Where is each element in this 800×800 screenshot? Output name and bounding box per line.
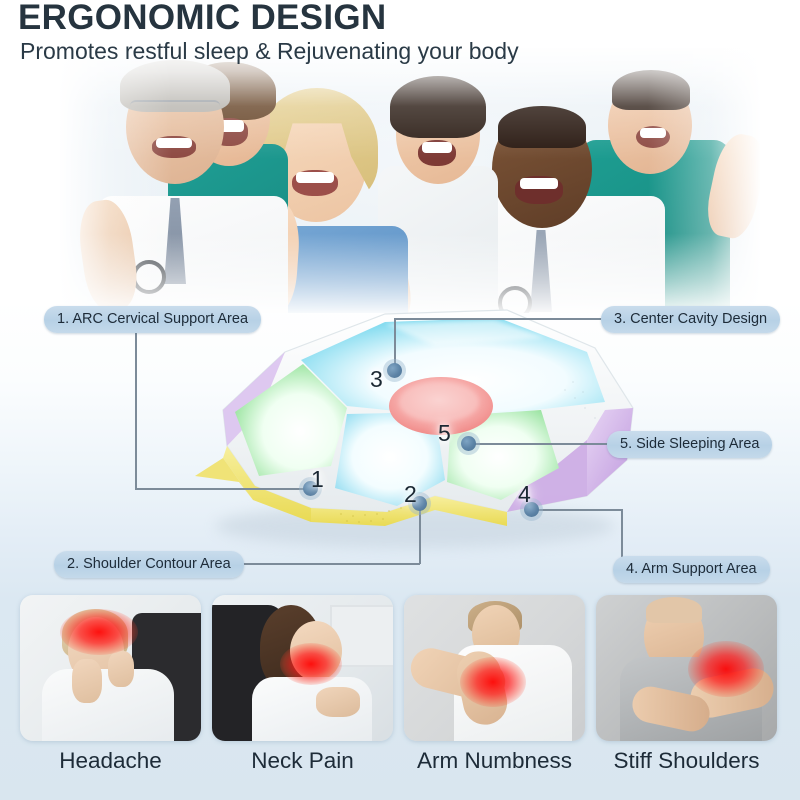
page-subtitle: Promotes restful sleep & Rejuvenating yo… (20, 38, 519, 65)
marker-number-5: 5 (438, 420, 451, 447)
leader-line-2-horizontal (234, 563, 420, 565)
leader-line-4-vertical (621, 509, 623, 558)
symptom-cards-row (20, 595, 780, 745)
leader-line-3-horizontal (394, 318, 602, 320)
marker-number-2: 2 (404, 481, 417, 508)
caption-neck-pain: Neck Pain (212, 748, 393, 788)
symptom-card-headache[interactable] (20, 595, 201, 741)
marker-number-1: 1 (311, 466, 324, 493)
symptom-card-arm-numbness[interactable] (404, 595, 585, 741)
stethoscope-senior-doctor (132, 260, 166, 294)
callout-label-1[interactable]: 1. ARC Cervical Support Area (44, 306, 261, 333)
caption-stiff-shoulders: Stiff Shoulders (596, 748, 777, 788)
leader-line-3-vertical (394, 318, 396, 367)
leader-line-2-vertical (419, 502, 421, 564)
marker-number-3: 3 (370, 366, 383, 393)
marker-dot-5[interactable] (461, 436, 476, 451)
symptom-card-neck-pain[interactable] (212, 595, 393, 741)
leader-line-5-horizontal (468, 443, 608, 445)
marker-number-4: 4 (518, 481, 531, 508)
infographic-page: 1. ARC Cervical Support Area 1 2. Should… (0, 0, 800, 800)
callout-label-3[interactable]: 3. Center Cavity Design (601, 306, 780, 333)
caption-arm-numbness: Arm Numbness (404, 748, 585, 788)
eyeglasses-senior-doctor (130, 100, 220, 116)
symptom-captions-row: Headache Neck Pain Arm Numbness Stiff Sh… (20, 748, 780, 788)
leader-line-1-horizontal (135, 488, 309, 490)
leader-line-1-vertical (135, 330, 137, 488)
pain-glow-head (60, 609, 138, 655)
pain-glow-neck (280, 643, 342, 685)
doctors-thumbs-up-photo (60, 48, 760, 313)
callout-label-4[interactable]: 4. Arm Support Area (613, 556, 770, 583)
page-title: ERGONOMIC DESIGN (18, 0, 386, 38)
callout-label-5[interactable]: 5. Side Sleeping Area (607, 431, 772, 458)
caption-headache: Headache (20, 748, 201, 788)
pain-glow-arm (460, 657, 526, 707)
leader-line-4-horizontal (531, 509, 622, 511)
symptom-card-stiff-shoulders[interactable] (596, 595, 777, 741)
pain-glow-shoulder (688, 641, 764, 697)
marker-dot-3[interactable] (387, 363, 402, 378)
callout-label-2[interactable]: 2. Shoulder Contour Area (54, 551, 244, 578)
